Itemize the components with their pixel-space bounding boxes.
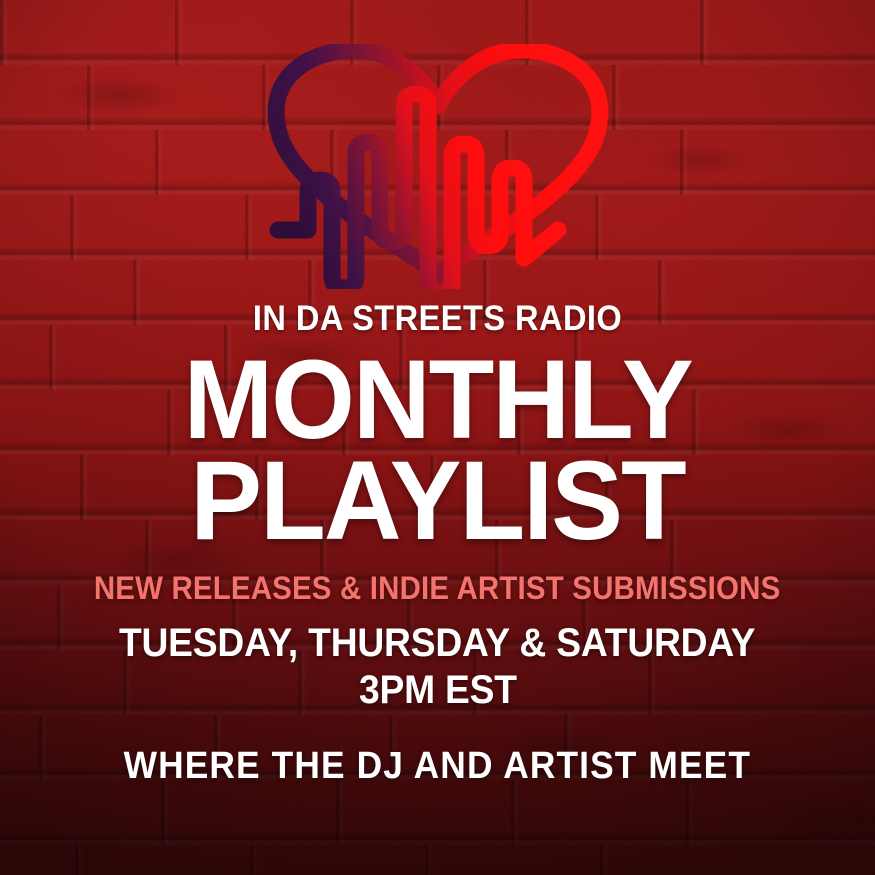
poster-content: IN DA STREETS RADIO MONTHLY PLAYLIST NEW… [0,0,875,875]
heart-waveform-logo [258,44,618,289]
headline-line-1: MONTHLY [183,347,691,452]
station-name: IN DA STREETS RADIO [253,299,622,339]
schedule-days: TUESDAY, THURSDAY & SATURDAY [119,621,755,666]
schedule-time: 3PM EST [359,668,517,713]
headline-line-2: PLAYLIST [190,448,684,553]
poster-canvas: IN DA STREETS RADIO MONTHLY PLAYLIST NEW… [0,0,875,875]
tagline: NEW RELEASES & INDIE ARTIST SUBMISSIONS [94,570,781,607]
footer-slogan: WHERE THE DJ AND ARTIST MEET [124,745,751,788]
